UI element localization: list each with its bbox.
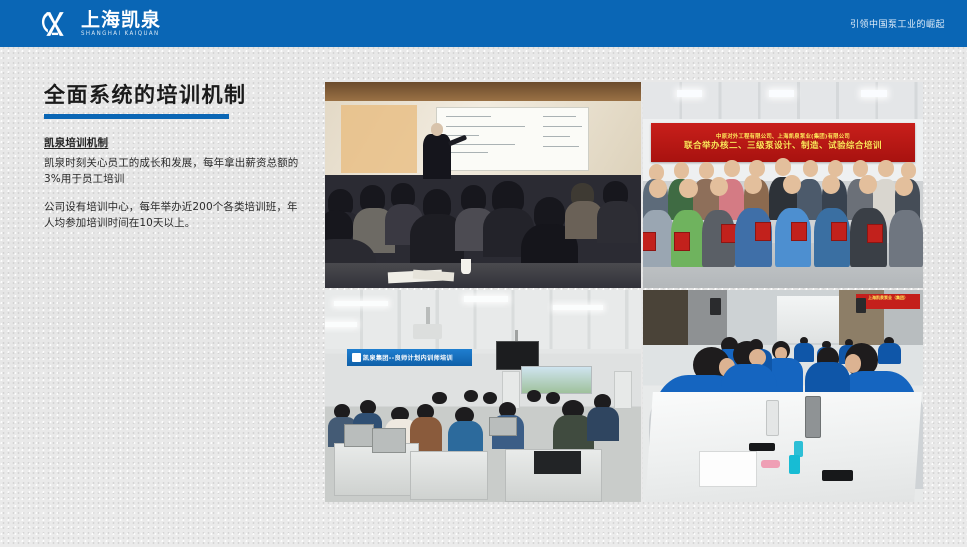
desk-front-mid [410, 451, 488, 500]
air-conditioner-right [614, 371, 632, 409]
title-underline-rule [44, 114, 229, 119]
red-training-banner: 中原对外工程有限公司、上海凯泉泵业(集团)有限公司 联合举办核二、三级泵设计、制… [651, 123, 914, 162]
brand-logo[interactable]: 上海凯泉 SHANGHAI KAIQUAN [36, 9, 161, 39]
banner-logo-icon [352, 353, 361, 362]
text-column: 全面系统的培训机制 凯泉培训机制 凯泉时刻关心员工的成长和发展，每年拿出薪资总额… [44, 82, 306, 242]
banner-line-2: 联合举办核二、三级泵设计、制造、试验综合培训 [684, 141, 882, 152]
wall-panel-orange [341, 105, 417, 173]
body-paragraph-1: 凯泉时刻关心员工的成长和发展，每年拿出薪资总额的3%用于员工培训 [44, 155, 306, 187]
banner-line-1: 中原对外工程有限公司、上海凯泉泵业(集团)有限公司 [716, 134, 850, 141]
projection-screen [777, 296, 839, 343]
section-subheading: 凯泉培训机制 [44, 136, 306, 150]
kaiquan-logo-icon [36, 9, 74, 39]
page-title: 全面系统的培训机制 [44, 82, 306, 108]
photo-classroom-lecture[interactable] [325, 82, 641, 288]
ceiling-tiles [643, 82, 923, 119]
ceiling-beam [325, 82, 641, 101]
speaker-right [856, 298, 866, 313]
photo-internal-trainer-class[interactable]: 凯泉集团--良师计划内训师培训 [325, 290, 641, 502]
front-desk [325, 263, 641, 288]
instructor-head [431, 123, 444, 135]
speaker-left [710, 298, 721, 315]
blue-training-banner: 凯泉集团--良师计划内训师培训 [347, 349, 472, 366]
banner-text: 凯泉集团--良师计划内训师培训 [363, 353, 453, 362]
photo-group-certificate[interactable]: 中原对外工程有限公司、上海凯泉泵业(集团)有限公司 联合举办核二、三级泵设计、制… [643, 82, 923, 288]
brand-name-en: SHANGHAI KAIQUAN [81, 29, 161, 38]
slide-root: 上海凯泉 SHANGHAI KAIQUAN 引领中国泵工业的崛起 全面系统的培训… [0, 0, 967, 547]
header-slogan: 引领中国泵工业的崛起 [850, 17, 945, 30]
photo-blue-uniform-workshop[interactable]: 上海凯泉泵业（集团） [643, 290, 923, 502]
body-paragraph-2: 公司设有培训中心，每年举办近200个各类培训班，年人均参加培训时间在10天以上。 [44, 199, 306, 231]
brand-logo-text: 上海凯泉 SHANGHAI KAIQUAN [81, 10, 161, 38]
ceiling-projector [413, 324, 441, 339]
brand-name-cn: 上海凯泉 [81, 10, 161, 30]
photo-grid: 中原对外工程有限公司、上海凯泉泵业(集团)有限公司 联合举办核二、三级泵设计、制… [325, 82, 923, 504]
paper-cup [461, 259, 471, 273]
instructor-figure [423, 134, 451, 179]
header-bar: 上海凯泉 SHANGHAI KAIQUAN 引领中国泵工业的崛起 [0, 0, 967, 47]
conference-table [645, 392, 922, 502]
